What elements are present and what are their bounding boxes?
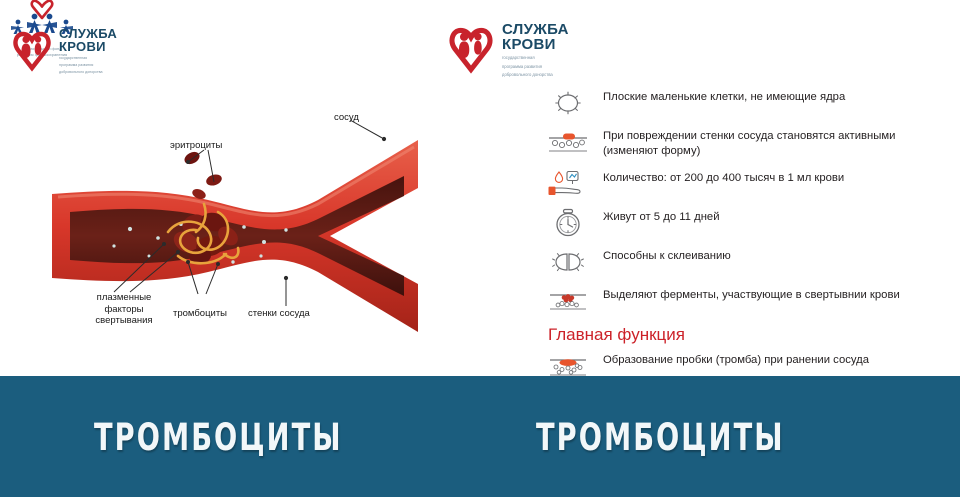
logo-blood-service-left: СЛУЖБА КРОВИ государственная программа р… xyxy=(12,27,117,75)
logo-word-line1: СЛУЖБА xyxy=(502,22,569,37)
logo-tagline-3: добровольного донорства xyxy=(502,72,569,78)
fact-item: При повреждении стенки сосуда становятся… xyxy=(545,127,945,160)
platelet-facts-list: Плоские маленькие клетки, не имеющие ядр… xyxy=(545,88,945,390)
fact-item: Живут от 5 до 11 дней xyxy=(545,208,945,238)
banner-title-right: ТРОМБОЦИТЫ xyxy=(536,416,785,459)
bottom-banner: ТРОМБОЦИТЫ ТРОМБОЦИТЫ xyxy=(0,376,960,497)
fact-text: Живут от 5 до 11 дней xyxy=(603,208,720,225)
fact-item: Плоские маленькие клетки, не имеющие ядр… xyxy=(545,88,945,118)
fact-text: Выделяют ферменты, участвующие в свертыв… xyxy=(603,286,900,303)
logo-word-line2: КРОВИ xyxy=(502,37,569,52)
label-vessel-walls: стенки сосуда xyxy=(248,308,310,320)
fact-item: Выделяют ферменты, участвующие в свертыв… xyxy=(545,286,945,316)
heart-people-icon xyxy=(448,25,494,75)
platelet-aggregation-icon xyxy=(545,247,591,277)
logo-tagline-1: государственная xyxy=(59,56,117,61)
logo-tagline-1: государственная xyxy=(502,55,569,61)
label-plasma-factors: плазменныефакторысвертывания xyxy=(80,292,168,327)
logo-tagline-2: программа развития xyxy=(502,64,569,70)
blood-vessel-illustration: сосуд эритроциты плазменныефакторысверты… xyxy=(18,96,438,366)
fact-text: При повреждении стенки сосуда становятся… xyxy=(603,127,945,160)
vessel-damage-icon xyxy=(545,127,591,157)
logo-word-line2: КРОВИ xyxy=(59,40,117,53)
platelet-cell-icon xyxy=(545,88,591,118)
banner-title-left: ТРОМБОЦИТЫ xyxy=(94,416,343,459)
alarm-clock-icon xyxy=(545,208,591,238)
enzyme-release-icon xyxy=(545,286,591,316)
label-vessel: сосуд xyxy=(334,112,359,124)
fact-item: Способны к склеиванию xyxy=(545,247,945,277)
logo-tagline-3: добровольного донорства xyxy=(59,70,117,75)
fact-text: Количество: от 200 до 400 тысяч в 1 мл к… xyxy=(603,169,844,186)
main-function-heading: Главная функция xyxy=(548,325,945,345)
fact-item: Количество: от 200 до 400 тысяч в 1 мл к… xyxy=(545,169,945,199)
heart-people-icon xyxy=(12,30,52,72)
label-erythrocytes: эритроциты xyxy=(170,140,222,152)
main-function-text: Образование пробки (тромба) при ранении … xyxy=(603,351,869,368)
logo-blood-service-center: СЛУЖБА КРОВИ государственная программа р… xyxy=(448,22,569,78)
fact-text: Плоские маленькие клетки, не имеющие ядр… xyxy=(603,88,845,105)
blood-drop-hand-icon xyxy=(545,169,591,199)
fact-text: Способны к склеиванию xyxy=(603,247,731,264)
logo-tagline-2: программа развития xyxy=(59,63,117,68)
infographic-page: СЛУЖБА КРОВИ государственная программа р… xyxy=(0,0,960,497)
label-platelets: тромбоциты xyxy=(173,308,227,320)
